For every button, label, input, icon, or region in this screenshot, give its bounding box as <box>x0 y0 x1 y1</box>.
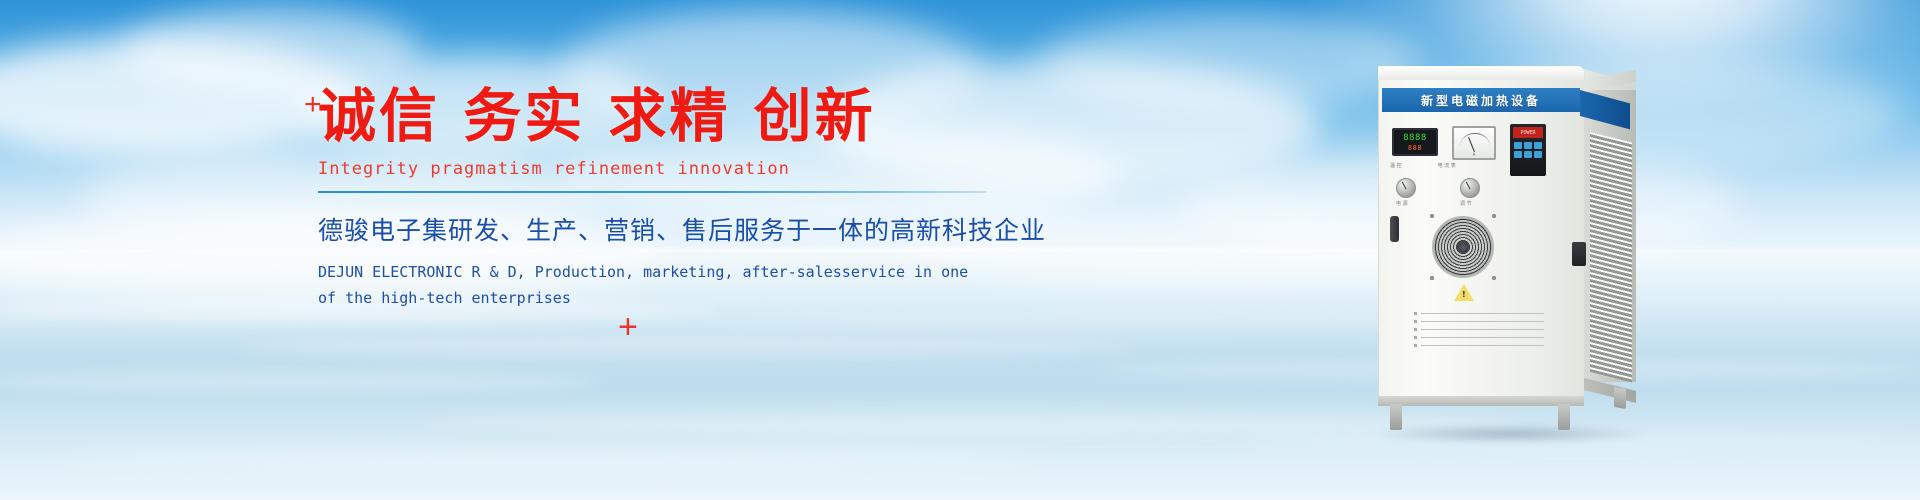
gauge-label: A <box>1454 152 1494 157</box>
spec-row <box>1414 320 1544 323</box>
cloud <box>1040 14 1420 110</box>
fan-screw <box>1430 214 1434 218</box>
plus-decor-icon: + <box>618 310 638 344</box>
headline-chinese: 诚信 务实 求精 创新 <box>318 86 1018 147</box>
keypad-display: POWER <box>1513 127 1543 138</box>
keypad-key <box>1534 142 1542 149</box>
machine-plate-label: 新型电磁加热设备 <box>1421 92 1541 109</box>
control-labels: 温 控 电 流 表 <box>1390 162 1510 169</box>
warning-label-icon <box>1454 284 1474 301</box>
spec-row <box>1414 336 1544 339</box>
banner-copy: 诚信 务实 求精 创新 Integrity pragmatism refinem… <box>318 86 1018 311</box>
machine-name-plate: 新型电磁加热设备 <box>1382 88 1580 112</box>
water-streak <box>60 448 1040 470</box>
machine-vent-grille <box>1590 132 1632 382</box>
control-label-left: 温 控 <box>1390 162 1402 169</box>
description-chinese: 德骏电子集研发、生产、营销、售后服务于一体的高新科技企业 <box>318 211 1018 247</box>
keypad-key <box>1524 142 1532 149</box>
water-streak <box>0 372 600 392</box>
analog-gauge: A <box>1452 126 1496 160</box>
digital-display: 8888 888 <box>1392 128 1438 156</box>
keypad-key <box>1514 142 1522 149</box>
gauge-arc <box>1460 133 1490 147</box>
fan-screw <box>1430 276 1434 280</box>
fan-screw <box>1492 276 1496 280</box>
spec-row <box>1414 344 1544 347</box>
fan-grille <box>1432 216 1494 278</box>
machine-foot <box>1558 404 1570 430</box>
keypad-key <box>1534 151 1542 158</box>
product-machine: 新型电磁加热设备 8888 888 A POWER 温 <box>1376 66 1646 424</box>
water-streak <box>240 338 1140 356</box>
keypad-key <box>1514 151 1522 158</box>
keypad-display-text: POWER <box>1520 130 1535 136</box>
fan-screw <box>1492 214 1496 218</box>
description-english-line2: of the high-tech enterprises <box>318 285 1018 311</box>
headline-english: Integrity pragmatism refinement innovati… <box>318 159 1018 179</box>
spec-row <box>1414 328 1544 331</box>
machine-foot <box>1614 387 1626 409</box>
promo-banner: + + 诚信 务实 求精 创新 Integrity pragmatism ref… <box>0 0 1920 500</box>
spec-row <box>1414 312 1544 315</box>
machine-shadow <box>1370 424 1650 444</box>
digital-display-line2: 888 <box>1397 143 1433 153</box>
divider-rule <box>318 191 986 193</box>
control-label-right: 电 流 表 <box>1438 162 1456 169</box>
keypad-keys <box>1513 142 1543 158</box>
water-streak <box>420 410 1520 434</box>
machine-foot <box>1390 404 1402 430</box>
control-keypad: POWER <box>1510 124 1546 176</box>
knob-label-left: 电 源 <box>1396 200 1408 207</box>
door-handle <box>1390 216 1399 242</box>
description-english: DEJUN ELECTRONIC R & D, Production, mark… <box>318 259 1018 312</box>
power-knob <box>1396 178 1416 198</box>
adjust-knob <box>1460 178 1480 198</box>
machine-base <box>1378 396 1584 406</box>
spec-label <box>1414 312 1544 352</box>
door-latch <box>1572 242 1586 266</box>
keypad-key <box>1524 151 1532 158</box>
digital-display-line1: 8888 <box>1397 133 1433 143</box>
description-english-line1: DEJUN ELECTRONIC R & D, Production, mark… <box>318 259 1018 285</box>
knob-label-right: 调 节 <box>1460 200 1472 207</box>
